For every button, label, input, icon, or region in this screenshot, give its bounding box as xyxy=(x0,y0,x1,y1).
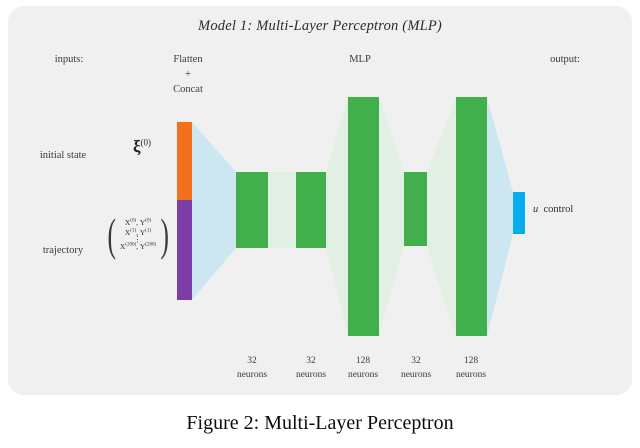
layer-caption-dense-5: 128 neurons xyxy=(443,354,499,383)
layer-unit-dense-5: neurons xyxy=(443,368,499,382)
layer-caption-dense-4: 32 neurons xyxy=(388,354,444,383)
layer-unit-dense-1: neurons xyxy=(224,368,280,382)
layer-bar-dense-2 xyxy=(296,172,326,248)
output-bar-control xyxy=(513,192,525,234)
input-bar-initial-state xyxy=(177,122,192,200)
network-diagram xyxy=(0,0,640,400)
layer-unit-dense-2: neurons xyxy=(283,368,339,382)
input-bar-trajectory xyxy=(177,200,192,300)
layer-bar-dense-4 xyxy=(404,172,427,246)
layer-unit-dense-4: neurons xyxy=(388,368,444,382)
figure-page: Model 1: Multi-Layer Perceptron (MLP) in… xyxy=(0,0,640,448)
layer-caption-dense-1: 32 neurons xyxy=(224,354,280,383)
connector-dense1-to-dense2 xyxy=(268,172,296,248)
layer-count-dense-4: 32 xyxy=(388,354,444,368)
layer-caption-dense-2: 32 neurons xyxy=(283,354,339,383)
layer-caption-dense-3: 128 neurons xyxy=(335,354,391,383)
layer-bar-dense-5 xyxy=(456,97,487,336)
layer-bar-dense-1 xyxy=(236,172,268,248)
layer-count-dense-2: 32 xyxy=(283,354,339,368)
layer-count-dense-1: 32 xyxy=(224,354,280,368)
output-symbol: u xyxy=(533,204,538,215)
layer-count-dense-5: 128 xyxy=(443,354,499,368)
layer-count-dense-3: 128 xyxy=(335,354,391,368)
layer-unit-dense-3: neurons xyxy=(335,368,391,382)
connector-dense3-to-dense4 xyxy=(379,97,404,336)
output-label-text: control xyxy=(544,204,574,215)
layer-bar-dense-3 xyxy=(348,97,379,336)
connector-dense5-to-output xyxy=(487,97,513,336)
connector-dense4-to-dense5 xyxy=(427,97,456,336)
connector-dense2-to-dense3 xyxy=(326,97,348,336)
figure-caption: Figure 2: Multi-Layer Perceptron xyxy=(0,412,640,435)
output-label: u control xyxy=(533,204,573,215)
connector-input-to-dense1 xyxy=(192,122,236,300)
